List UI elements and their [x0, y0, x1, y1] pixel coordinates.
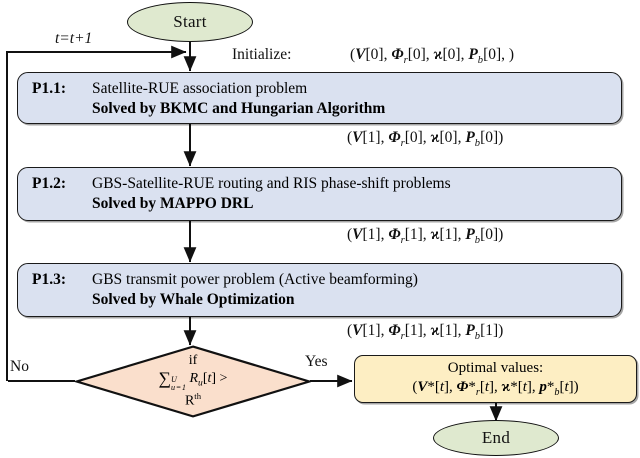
p13-tag: P1.3:	[18, 270, 92, 290]
result-values: (V*[t], Φ*r[t], ϰ*[t], p*b[t])	[412, 378, 578, 399]
process-p13: P1.3: GBS transmit power problem (Active…	[17, 263, 622, 317]
result-box: Optimal values: (V*[t], Φ*r[t], ϰ*[t], p…	[354, 355, 637, 403]
after-p11-label: (V[1], Φr[0], ϰ[0], Pb[0])	[347, 129, 503, 149]
p13-problem: GBS transmit power problem (Active beamf…	[92, 271, 418, 288]
process-p12: P1.2: GBS-Satellite-RUE routing and RIS …	[17, 167, 622, 221]
p11-solved: Solved by BKMC and Hungarian Algorithm	[92, 99, 385, 119]
branch-no-label: No	[10, 358, 29, 376]
decision-line-3: Rth	[185, 392, 201, 409]
initialize-values-label: (V[0], Φr[0], ϰ[0], Pb[0], )	[350, 46, 514, 66]
after-p13-label: (V[1], Φr[1], ϰ[1], Pb[1])	[347, 322, 503, 342]
p11-problem: Satellite-RUE association problem	[92, 80, 307, 97]
result-title: Optimal values:	[448, 359, 543, 379]
decision-line-1: if	[189, 353, 198, 369]
p12-solved: Solved by MAPPO DRL	[92, 194, 451, 214]
start-label: Start	[173, 12, 207, 32]
p12-problem: GBS-Satellite-RUE routing and RIS phase-…	[92, 175, 451, 192]
process-p11: P1.1: Satellite-RUE association problem …	[17, 72, 622, 124]
flowchart-canvas: Start t=t+1 Initialize: (V[0], Φr[0], ϰ[…	[0, 0, 640, 458]
branch-yes-label: Yes	[305, 353, 328, 371]
after-p12-label: (V[1], Φr[1], ϰ[1], Pb[0])	[347, 226, 503, 246]
decision-line-2: ∑Uu = 1 Ru[t] >	[159, 369, 228, 393]
p13-solved: Solved by Whale Optimization	[92, 290, 418, 310]
end-label: End	[482, 428, 510, 448]
p12-tag: P1.2:	[18, 174, 92, 194]
decision-condition: if ∑Uu = 1 Ru[t] > Rth	[75, 345, 311, 418]
start-terminator: Start	[127, 2, 253, 42]
initialize-key-label: Initialize:	[232, 46, 291, 64]
loop-back-label: t=t+1	[55, 30, 92, 48]
end-terminator: End	[433, 420, 559, 456]
p11-tag: P1.1:	[18, 79, 92, 99]
